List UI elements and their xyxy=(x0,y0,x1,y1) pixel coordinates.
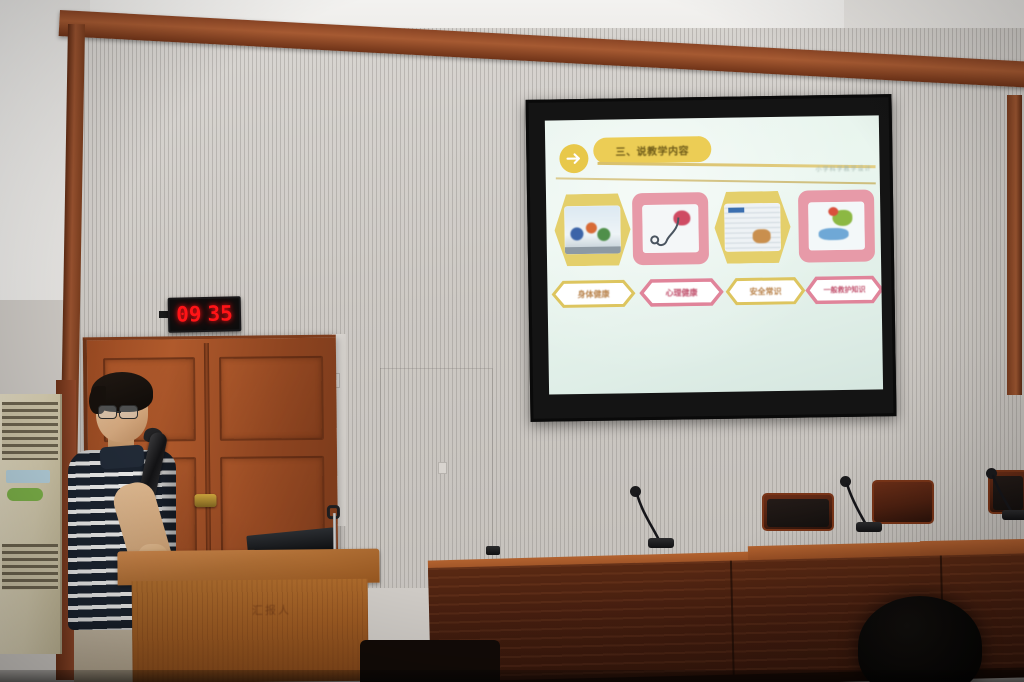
first-aid-illustration-photo xyxy=(808,202,865,251)
presenter-collar xyxy=(99,444,144,469)
eyeglasses-left-lens xyxy=(98,405,117,419)
floor-shadow xyxy=(0,670,1024,682)
ac-display-panel xyxy=(6,470,50,483)
table-microphone-3 xyxy=(986,468,1024,530)
slide-thumbnail-row xyxy=(552,189,881,274)
label-mental-health-text: 心理健康 xyxy=(665,287,697,299)
table-microphone-2 xyxy=(840,476,886,542)
door-panel-upper-right xyxy=(219,356,324,441)
label-physical-health-text: 身体健康 xyxy=(577,288,609,300)
lecture-hall-photo: 三、说教学内容 小学科学教学设计 xyxy=(0,0,1024,682)
ac-vent-bottom xyxy=(2,544,58,590)
slide-watermark: 小学科学教学设计 xyxy=(816,163,872,173)
slide-title: 三、说教学内容 xyxy=(615,142,689,158)
stethoscope-heart-photo xyxy=(642,204,699,253)
clock-minutes: 35 xyxy=(207,303,233,325)
table-microphone-1 xyxy=(630,486,676,554)
wood-trim-right xyxy=(1007,95,1022,395)
ac-brand-badge xyxy=(7,488,43,501)
air-conditioner xyxy=(0,394,62,654)
podium-front-panel: 汇报人 xyxy=(132,579,369,682)
podium-engraved-text: 汇报人 xyxy=(252,602,291,618)
label-safety-knowledge: 安全常识 xyxy=(725,277,805,306)
door-handle[interactable] xyxy=(194,494,216,507)
slide-label-row: 身体健康 心理健康 安全常识 xyxy=(551,275,883,314)
thumbnail-frame-stethoscope xyxy=(632,192,709,265)
eyeglasses-right-lens xyxy=(119,405,138,419)
projected-slide: 三、说教学内容 小学科学教学设计 xyxy=(545,115,883,394)
label-first-aid-knowledge-text: 一般救护知识 xyxy=(823,285,865,296)
thumbnail-frame-safety-document xyxy=(714,191,791,264)
label-safety-knowledge-text: 安全常识 xyxy=(749,285,781,297)
clock-hours: 09 xyxy=(176,304,202,326)
thumbnail-frame-children-exercise xyxy=(554,193,631,266)
label-first-aid-knowledge: 一般救护知识 xyxy=(805,275,883,304)
projection-screen: 三、说教学内容 小学科学教学设计 xyxy=(525,94,896,422)
door-center-split xyxy=(204,343,211,568)
safety-document-photo xyxy=(724,203,781,252)
thumbnail-frame-first-aid xyxy=(798,189,875,262)
ac-vent-top xyxy=(2,402,58,460)
slide-title-pill: 三、说教学内容 xyxy=(593,136,711,164)
wall-socket xyxy=(438,462,447,474)
label-mental-health: 心理健康 xyxy=(639,278,723,307)
eyeglasses-bridge xyxy=(116,411,121,413)
label-physical-health: 身体健康 xyxy=(551,279,635,308)
children-exercise-photo xyxy=(564,205,621,254)
digital-clock: 09 35 xyxy=(168,296,242,333)
speaker-podium: 汇报人 xyxy=(117,549,380,682)
